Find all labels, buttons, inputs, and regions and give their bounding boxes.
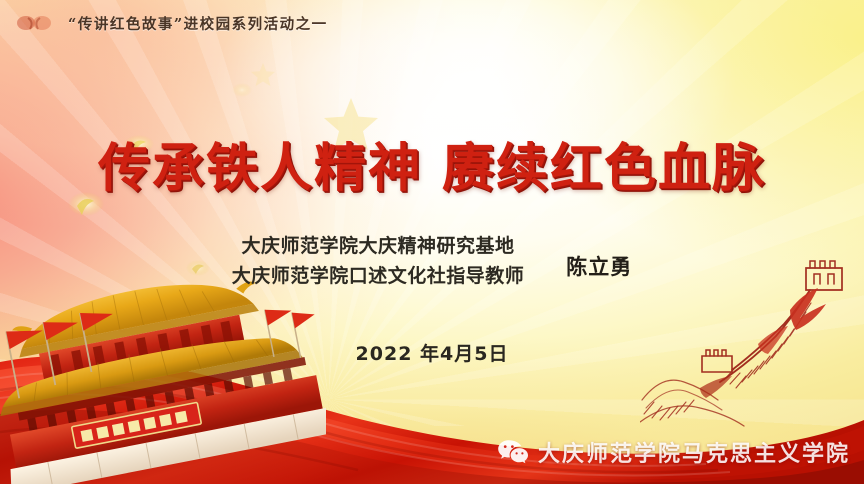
slide-title: 传承铁人精神 赓续红色血脉 <box>0 126 864 201</box>
header-bar: “传讲红色故事”进校园系列活动之一 <box>0 0 864 46</box>
header-title: “传讲红色故事”进校园系列活动之一 <box>68 13 328 34</box>
affiliation-line-2: 大庆师范学院口述文化社指导教师 <box>232 261 525 291</box>
red-seal-logo-icon <box>14 10 58 36</box>
title-slide: “传讲红色故事”进校园系列活动之一 传承铁人精神 赓续红色血脉 大庆师范学院大庆… <box>0 0 864 484</box>
watermark-text: 大庆师范学院马克思主义学院 <box>538 436 850 468</box>
subtitle-block: 大庆师范学院大庆精神研究基地 大庆师范学院口述文化社指导教师 陈立勇 <box>0 231 864 291</box>
slide-title-text: 传承铁人精神 赓续红色血脉 <box>98 126 766 201</box>
wechat-watermark: 大庆师范学院马克思主义学院 <box>497 436 850 468</box>
affiliation-block: 大庆师范学院大庆精神研究基地 大庆师范学院口述文化社指导教师 <box>232 231 525 291</box>
date-block: 2022 年4月5日 <box>0 339 864 366</box>
presenter-name: 陈立勇 <box>566 251 632 281</box>
date-text: 2022 年4月5日 <box>356 343 509 365</box>
wechat-icon <box>497 438 529 466</box>
affiliation-line-1: 大庆师范学院大庆精神研究基地 <box>232 231 525 261</box>
